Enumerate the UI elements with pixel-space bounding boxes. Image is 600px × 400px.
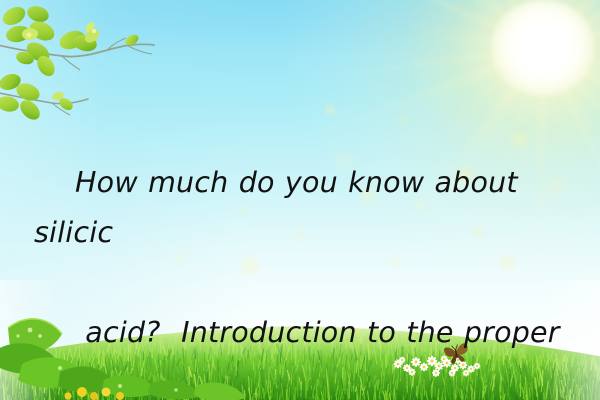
page-title: How much do you know about silicic acid?… (0, 108, 600, 400)
nature-banner-image: How much do you know about silicic acid?… (0, 0, 600, 400)
title-line-2: acid? Introduction to the proper (75, 316, 560, 349)
title-line-1: How much do you know about silicic (34, 166, 528, 249)
